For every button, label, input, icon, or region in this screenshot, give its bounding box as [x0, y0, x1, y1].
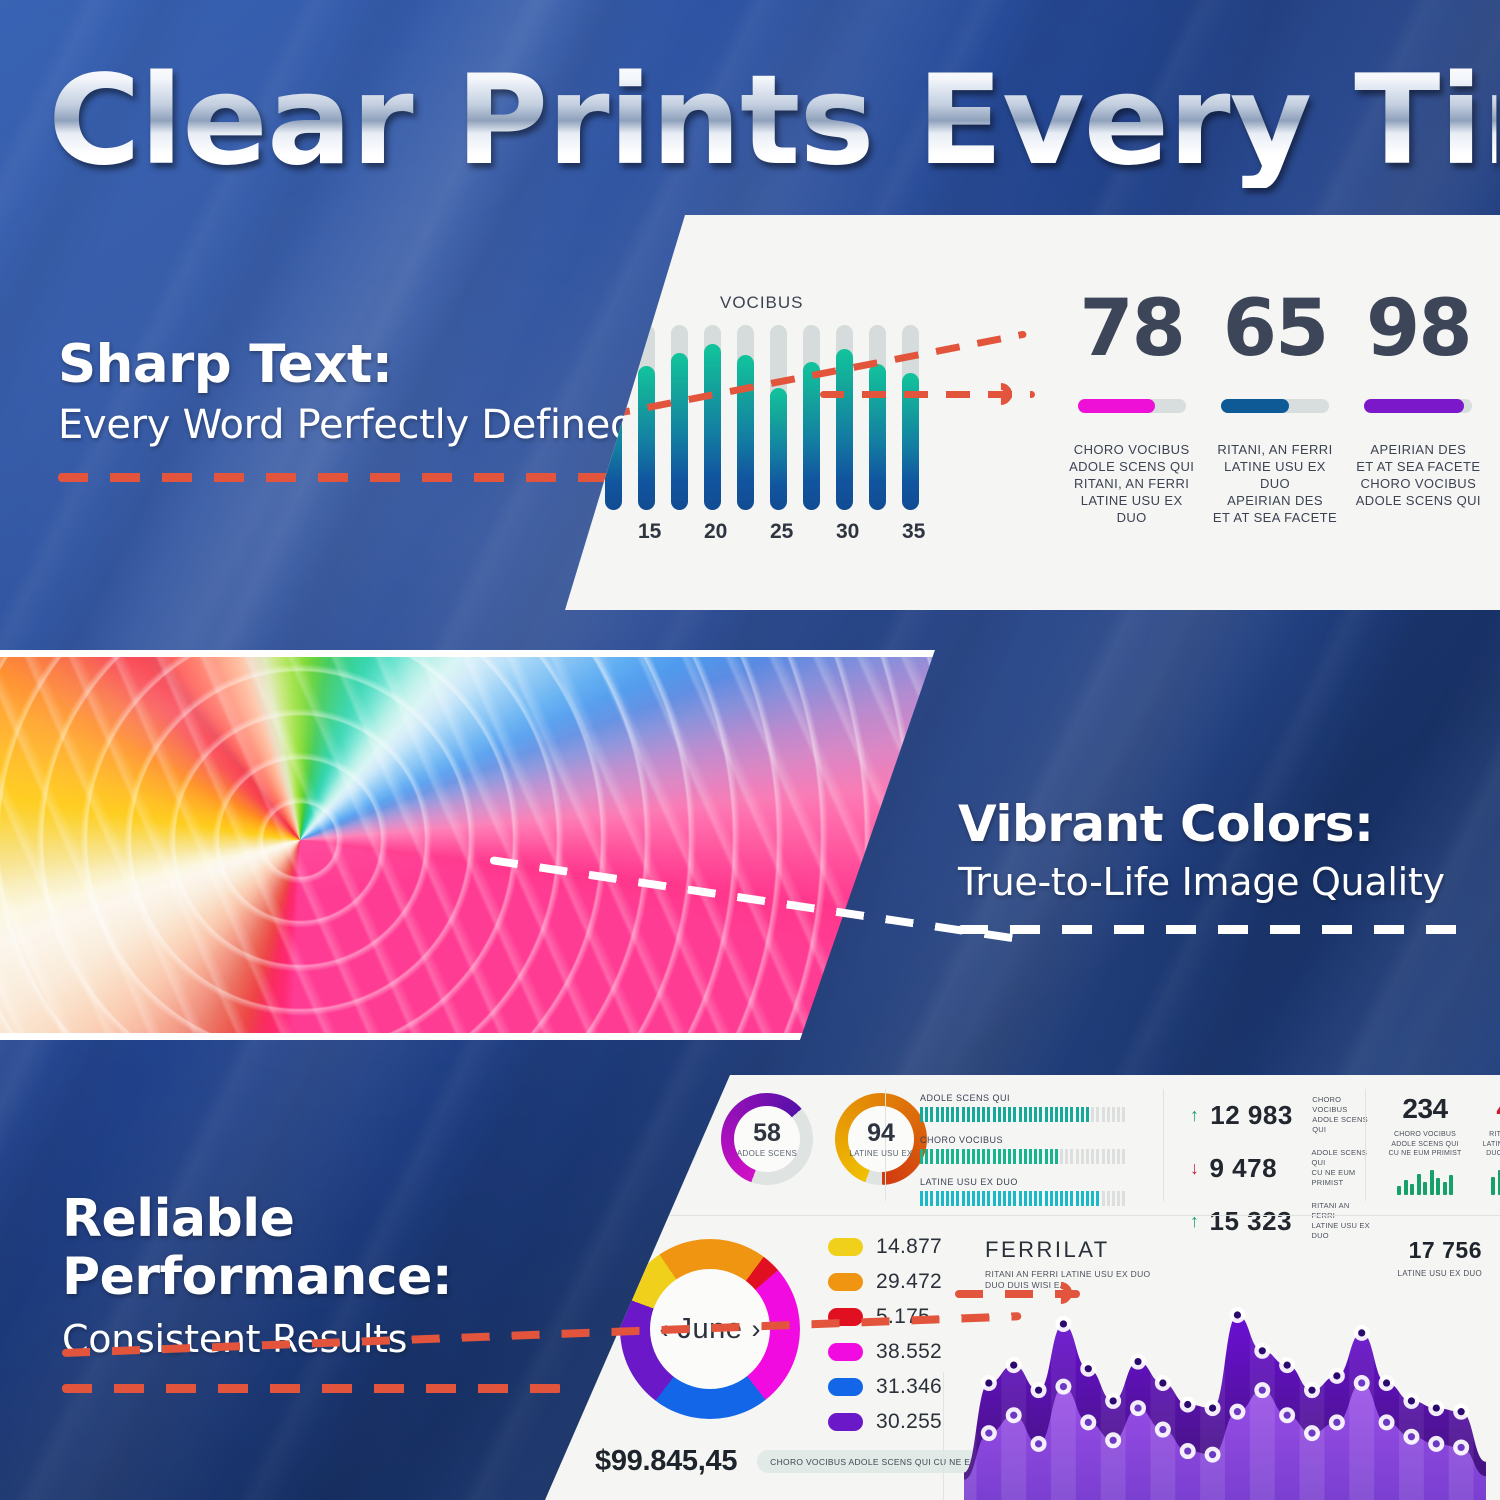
progress-segment: [1122, 1107, 1125, 1122]
legend-swatch: [828, 1343, 863, 1361]
stat-card: 78CHORO VOCIBUSADOLE SCENS QUIRITANI, AN…: [1065, 287, 1198, 526]
mini-stat-description-line: LATINE USU EX DUO: [1479, 1140, 1500, 1150]
legend-value: 31.346: [876, 1375, 942, 1399]
progress-segment: [1081, 1191, 1084, 1206]
legend-row: 14.877: [828, 1235, 942, 1259]
progress-segment: [962, 1191, 965, 1206]
donut-value: 58: [737, 1121, 797, 1146]
legend-swatch: [828, 1413, 863, 1431]
progress-row: CHORO VOCIBUS: [920, 1135, 1150, 1164]
area-marker-dot: [1259, 1387, 1266, 1394]
area-marker-dot: [1458, 1444, 1465, 1451]
area-marker-dot: [1085, 1419, 1092, 1426]
donut-label-group: 94LATINE USU EX: [849, 1121, 912, 1158]
mini-stat: 234CHORO VOCIBUSADOLE SCENS QUICU NE EUM…: [1385, 1093, 1465, 1195]
progress-segment: [1039, 1191, 1042, 1206]
donut-label-group: 58ADOLE SCENS: [737, 1121, 797, 1158]
mini-stat-description-line: CU NE EUM PRIMIST: [1385, 1149, 1465, 1159]
area-marker-dot: [1159, 1379, 1166, 1386]
mini-stat-description-line: ADOLE SCENS QUI: [1385, 1140, 1465, 1150]
kpi-row: ↓9 478ADOLE SCENS QUICU NE EUM PRIMIST: [1190, 1148, 1370, 1188]
sparkline-bar: [1397, 1186, 1401, 1194]
progress-segment: [1013, 1107, 1016, 1122]
sparkline-bar: [1410, 1184, 1414, 1195]
stat-description-line: ET AT SEA FACETE: [1208, 509, 1341, 526]
area-marker-dot: [1060, 1320, 1067, 1327]
feature-sharp-text: Sharp Text: Every Word Perfectly Defined: [58, 335, 658, 482]
progress-segment: [1008, 1191, 1011, 1206]
progress-segment: [1091, 1149, 1094, 1164]
progress-segment: [941, 1107, 944, 1122]
feature-vibrant-colors: Vibrant Colors: True-to-Life Image Quali…: [958, 795, 1478, 934]
progress-segment: [993, 1149, 996, 1164]
progress-segment: [1107, 1191, 1110, 1206]
progress-row: LATINE USU EX DUO: [920, 1177, 1150, 1206]
stat-progress-track: [1221, 399, 1329, 413]
arrow-down-icon: ↓: [1190, 1158, 1201, 1179]
stat-progress-track: [1078, 399, 1186, 413]
progress-segment: [936, 1149, 939, 1164]
area-marker-dot: [1433, 1440, 1440, 1447]
progress-label: ADOLE SCENS QUI: [920, 1093, 1150, 1103]
progress-segment: [1029, 1107, 1032, 1122]
legend-swatch: [828, 1273, 863, 1291]
progress-segment: [993, 1107, 996, 1122]
bar-column: [737, 325, 754, 510]
area-marker-dot: [1259, 1347, 1266, 1354]
progress-segment: [967, 1191, 970, 1206]
mini-stat-value: 234: [1385, 1093, 1465, 1125]
area-marker-dot: [985, 1430, 992, 1437]
progress-segment: [967, 1107, 970, 1122]
progress-segment: [987, 1107, 990, 1122]
progress-segment: [1081, 1107, 1084, 1122]
progress-segment: [1107, 1149, 1110, 1164]
color-swatch-photo: [0, 650, 950, 1040]
progress-segment: [1008, 1149, 1011, 1164]
stat-progress-fill: [1078, 399, 1156, 413]
progress-segment: [1076, 1107, 1079, 1122]
legend-value: 30.255: [876, 1410, 942, 1434]
x-axis-tick: 35: [902, 520, 919, 544]
progress-label: CHORO VOCIBUS: [920, 1135, 1150, 1145]
bar-chart: [605, 325, 945, 510]
area-marker-dot: [1284, 1412, 1291, 1419]
total-amount: $99.845,45: [595, 1445, 737, 1478]
progress-segment: [987, 1191, 990, 1206]
legend-row: 29.472: [828, 1270, 942, 1294]
progress-row: ADOLE SCENS QUI: [920, 1093, 1150, 1122]
color-swatch-image: [0, 650, 950, 1040]
divider-horizontal: [545, 1215, 1500, 1216]
stat-description-line: RITANI, AN FERRI: [1208, 441, 1341, 458]
progress-segment: [1065, 1107, 1068, 1122]
bar-chart-x-axis: 1520253035: [605, 520, 965, 544]
progress-segment: [1024, 1191, 1027, 1206]
progress-segment: [925, 1191, 928, 1206]
progress-segment: [1003, 1107, 1006, 1122]
progress-segment: [1003, 1191, 1006, 1206]
feature-3-dashed-rule: [62, 1384, 562, 1393]
progress-segment: [1039, 1149, 1042, 1164]
legend-value: 14.877: [876, 1235, 942, 1259]
area-marker-dot: [1060, 1383, 1067, 1390]
legend-swatch: [828, 1238, 863, 1256]
stat-description: CHORO VOCIBUSADOLE SCENS QUIRITANI, AN F…: [1065, 441, 1198, 526]
area-marker-dot: [1234, 1408, 1241, 1415]
progress-segment: [1034, 1107, 1037, 1122]
progress-segment: [998, 1149, 1001, 1164]
bar-column: [836, 325, 853, 510]
bar-chart-label: VOCIBUS: [720, 293, 804, 313]
progress-segment: [951, 1107, 954, 1122]
area-marker-dot: [1333, 1419, 1340, 1426]
progress-segment: [1091, 1191, 1094, 1206]
area-marker-dot: [1209, 1451, 1216, 1458]
mini-stat-description-line: RITANI AN FERRI: [1479, 1130, 1500, 1140]
area-marker-dot: [1408, 1433, 1415, 1440]
progress-segments: [920, 1149, 1150, 1164]
stat-description-line: ADOLE SCENS QUI: [1352, 492, 1485, 509]
area-marker-dot: [1234, 1311, 1241, 1318]
kpi-description-line: CHORO VOCIBUS: [1312, 1095, 1370, 1115]
x-axis-tick: 30: [836, 520, 853, 544]
area-marker-dot: [1408, 1397, 1415, 1404]
progress-segment: [1055, 1107, 1058, 1122]
progress-segment: [1029, 1149, 1032, 1164]
area-marker-dot: [1184, 1447, 1191, 1454]
progress-segment: [1019, 1149, 1022, 1164]
progress-segment: [1029, 1191, 1032, 1206]
progress-segment: [1117, 1149, 1120, 1164]
progress-segment: [1045, 1149, 1048, 1164]
area-marker-dot: [1035, 1440, 1042, 1447]
progress-segment: [1117, 1191, 1120, 1206]
donut-gauge: 94LATINE USU EX: [835, 1093, 927, 1185]
feature-1-dashed-rule: [58, 473, 638, 482]
feature-2-headline: Vibrant Colors:: [958, 795, 1478, 853]
kpi-description: CHORO VOCIBUSADOLE SCENS QUI: [1312, 1095, 1370, 1135]
donut-caption: LATINE USU EX: [849, 1149, 912, 1158]
progress-segment: [998, 1191, 1001, 1206]
bar-fill: [704, 344, 721, 511]
area-marker-dot: [985, 1379, 992, 1386]
mini-stat-description: RITANI AN FERRILATINE USU EX DUODUO DUIS…: [1479, 1130, 1500, 1159]
progress-segment: [936, 1191, 939, 1206]
progress-segment: [1096, 1191, 1099, 1206]
kpi-description-line: ADOLE SCENS QUI: [1312, 1115, 1370, 1135]
sparkline-bar: [1436, 1178, 1440, 1195]
area-marker-dot: [1184, 1401, 1191, 1408]
progress-segment: [982, 1149, 985, 1164]
progress-segment: [925, 1107, 928, 1122]
stat-description: RITANI, AN FERRILATINE USU EX DUOAPEIRIA…: [1208, 441, 1341, 526]
progress-segment: [1091, 1107, 1094, 1122]
progress-segment: [946, 1191, 949, 1206]
area-marker-dot: [1433, 1404, 1440, 1411]
progress-segment: [1076, 1149, 1079, 1164]
mini-stat: 457RITANI AN FERRILATINE USU EX DUODUO D…: [1479, 1093, 1500, 1195]
legend-swatch: [828, 1378, 863, 1396]
progress-segment: [1112, 1191, 1115, 1206]
feature-3-headline-line1: Reliable: [62, 1190, 582, 1248]
progress-segment: [982, 1191, 985, 1206]
stat-card-group: 78CHORO VOCIBUSADOLE SCENS QUIRITANI, AN…: [1065, 287, 1485, 526]
progress-segment: [936, 1107, 939, 1122]
stat-description: APEIRIAN DESET AT SEA FACETECHORO VOCIBU…: [1352, 441, 1485, 509]
mini-stat-description-line: DUO DUIS WISI EA: [1479, 1149, 1500, 1159]
area-marker-dot: [1308, 1430, 1315, 1437]
progress-segment: [1081, 1149, 1084, 1164]
area-chart-svg: [950, 1295, 1500, 1500]
area-marker-dot: [1284, 1362, 1291, 1369]
area-marker-dot: [1010, 1412, 1017, 1419]
progress-segment: [1102, 1191, 1105, 1206]
area-marker-dot: [1035, 1387, 1042, 1394]
page-title: Clear Prints Every Time: [48, 58, 1496, 188]
progress-segment: [982, 1107, 985, 1122]
progress-segment: [1096, 1149, 1099, 1164]
sparkline-bar: [1443, 1182, 1447, 1195]
feature-reliable-performance: Reliable Performance: Consistent Results: [62, 1190, 582, 1393]
progress-segment: [1086, 1191, 1089, 1206]
progress-segment: [967, 1149, 970, 1164]
x-axis-tick: [737, 520, 754, 544]
bar-fill: [737, 355, 754, 510]
x-axis-tick: 25: [770, 520, 787, 544]
progress-segment: [1003, 1149, 1006, 1164]
area-chart-title: FERRILAT: [985, 1237, 1110, 1263]
progress-segment: [972, 1191, 975, 1206]
progress-segment: [1065, 1191, 1068, 1206]
stat-value: 65: [1208, 287, 1341, 371]
divider-vertical-2: [1163, 1089, 1164, 1201]
progress-segments: [920, 1191, 1150, 1206]
progress-segment: [1013, 1191, 1016, 1206]
progress-segment: [1086, 1107, 1089, 1122]
bar-fill: [671, 353, 688, 510]
progress-segment: [1076, 1191, 1079, 1206]
mini-stat-value: 457: [1479, 1093, 1500, 1125]
x-axis-tick: 15: [638, 520, 655, 544]
mini-stat-group: 234CHORO VOCIBUSADOLE SCENS QUICU NE EUM…: [1385, 1093, 1500, 1195]
kpi-description-line: ADOLE SCENS QUI: [1312, 1148, 1371, 1168]
progress-segment: [930, 1149, 933, 1164]
x-axis-tick: [803, 520, 820, 544]
progress-segment: [951, 1191, 954, 1206]
legend-value: 38.552: [876, 1340, 942, 1364]
progress-segment: [1060, 1191, 1063, 1206]
feature-2-subtext: True-to-Life Image Quality: [958, 857, 1478, 907]
progress-segment: [1112, 1107, 1115, 1122]
progress-segment: [1039, 1107, 1042, 1122]
progress-label: LATINE USU EX DUO: [920, 1177, 1150, 1187]
progress-segment: [951, 1149, 954, 1164]
progress-segment: [1112, 1149, 1115, 1164]
arrow-up-icon: ↑: [1190, 1105, 1201, 1126]
progress-segment: [977, 1191, 980, 1206]
progress-segment: [946, 1149, 949, 1164]
stat-value: 78: [1065, 287, 1198, 371]
kpi-value: 12 983: [1210, 1100, 1303, 1131]
progress-segment: [941, 1149, 944, 1164]
progress-segment: [993, 1191, 996, 1206]
progress-segment: [1034, 1149, 1037, 1164]
progress-segment: [1034, 1191, 1037, 1206]
progress-segment: [1122, 1191, 1125, 1206]
progress-segment: [925, 1149, 928, 1164]
donut-gauge: 58ADOLE SCENS: [721, 1093, 813, 1185]
area-marker-dot: [1134, 1358, 1141, 1365]
stat-description-line: LATINE USU EX DUO: [1208, 458, 1341, 492]
progress-segment: [972, 1149, 975, 1164]
progress-segment: [1045, 1107, 1048, 1122]
progress-segment: [930, 1107, 933, 1122]
progress-segment: [1024, 1149, 1027, 1164]
kpi-value: 9 478: [1210, 1153, 1303, 1184]
sparkline-bar: [1491, 1177, 1495, 1194]
progress-segment: [1055, 1149, 1058, 1164]
stat-description-line: RITANI, AN FERRI: [1065, 475, 1198, 492]
bar-fill: [803, 362, 820, 510]
area-marker-dot: [1308, 1387, 1315, 1394]
stat-progress-fill: [1364, 399, 1463, 413]
mini-stat-description: CHORO VOCIBUSADOLE SCENS QUICU NE EUM PR…: [1385, 1130, 1465, 1159]
progress-segment: [1008, 1107, 1011, 1122]
stat-description-line: ET AT SEA FACETE: [1352, 458, 1485, 475]
area-marker-dot: [1458, 1408, 1465, 1415]
area-marker-dot: [1110, 1397, 1117, 1404]
mini-stat-description-line: CHORO VOCIBUS: [1385, 1130, 1465, 1140]
progress-segment: [972, 1107, 975, 1122]
stat-description-line: APEIRIAN DES: [1352, 441, 1485, 458]
stat-description-line: LATINE USU EX DUO: [1065, 492, 1198, 526]
area-marker-dot: [1358, 1329, 1365, 1336]
area-marker-dot: [1333, 1372, 1340, 1379]
progress-segment: [1070, 1107, 1073, 1122]
progress-segment: [1102, 1149, 1105, 1164]
progress-segment: [920, 1191, 923, 1206]
legend-row: 31.346: [828, 1375, 942, 1399]
pie-legend: 14.87729.4725.17538.55231.34630.255: [828, 1235, 942, 1445]
color-fan-highlight: [0, 650, 950, 1040]
bar-column: [803, 325, 820, 510]
progress-segment: [1055, 1191, 1058, 1206]
area-chart-card: FERRILAT RITANI AN FERRI LATINE USU EX D…: [950, 1217, 1500, 1500]
sparkline-bar: [1449, 1175, 1453, 1195]
progress-segment: [1065, 1149, 1068, 1164]
area-marker-dot: [1010, 1362, 1017, 1369]
area-marker-dot: [1085, 1365, 1092, 1372]
trend-line-hook-icon: [985, 378, 1016, 409]
area-chart-value-caption: LATINE USU EX DUO: [1397, 1269, 1482, 1278]
legend-value: 29.472: [876, 1270, 942, 1294]
stat-progress-track: [1364, 399, 1472, 413]
feature-1-headline: Sharp Text:: [58, 335, 658, 395]
progress-segment: [1019, 1191, 1022, 1206]
progress-segment: [1096, 1107, 1099, 1122]
stat-value: 98: [1352, 287, 1485, 371]
progress-segment: [1045, 1191, 1048, 1206]
bar-fill: [638, 366, 655, 510]
progress-segment: [977, 1107, 980, 1122]
stat-description-line: CHORO VOCIBUS: [1065, 441, 1198, 458]
area-subtitle-line-1: RITANI AN FERRI LATINE USU EX DUO: [985, 1269, 1150, 1280]
area-marker-dot: [1383, 1379, 1390, 1386]
progress-bar-group: ADOLE SCENS QUICHORO VOCIBUSLATINE USU E…: [920, 1093, 1150, 1219]
x-axis-tick: [671, 520, 688, 544]
progress-segment: [941, 1191, 944, 1206]
progress-segment: [1050, 1149, 1053, 1164]
feature-2-dashed-rule: [958, 925, 1478, 934]
dashboard-bottom-row: ‹ June › 14.87729.4725.17538.55231.34630…: [545, 1217, 1500, 1500]
feature-1-subtext: Every Word Perfectly Defined: [58, 399, 658, 451]
progress-segment: [998, 1107, 1001, 1122]
sparkline: [1479, 1167, 1500, 1195]
sparkline-bar: [1404, 1180, 1408, 1195]
progress-segment: [1107, 1107, 1110, 1122]
area-marker-dot: [1110, 1437, 1117, 1444]
progress-segment: [987, 1149, 990, 1164]
progress-segment: [1086, 1149, 1089, 1164]
bar-fill: [770, 388, 787, 510]
progress-segment: [962, 1107, 965, 1122]
area-marker-dot: [1358, 1379, 1365, 1386]
divider-vertical-4: [943, 1372, 944, 1500]
bar-column: [671, 325, 688, 510]
bar-column: [704, 325, 721, 510]
progress-segment: [1019, 1107, 1022, 1122]
progress-segment: [1024, 1107, 1027, 1122]
stat-progress-fill: [1221, 399, 1289, 413]
area-chart-value: 17 756: [1409, 1237, 1482, 1264]
donut-caption: ADOLE SCENS: [737, 1149, 797, 1158]
area-marker-dot: [1159, 1426, 1166, 1433]
x-axis-tick: [605, 520, 622, 544]
progress-segment: [1060, 1107, 1063, 1122]
area-marker-dot: [1383, 1419, 1390, 1426]
progress-segment: [1050, 1107, 1053, 1122]
stat-description-line: CHORO VOCIBUS: [1352, 475, 1485, 492]
stat-card: 65RITANI, AN FERRILATINE USU EX DUOAPEIR…: [1208, 287, 1341, 526]
progress-segment: [1102, 1107, 1105, 1122]
progress-segment: [956, 1107, 959, 1122]
bar-fill: [869, 364, 886, 510]
progress-segment: [956, 1191, 959, 1206]
donut-value: 94: [849, 1121, 912, 1146]
progress-segment: [1117, 1107, 1120, 1122]
progress-segment: [930, 1191, 933, 1206]
stat-description-line: APEIRIAN DES: [1208, 492, 1341, 509]
feature-3-headline-line2: Performance:: [62, 1248, 582, 1306]
progress-segment: [946, 1107, 949, 1122]
kpi-description: ADOLE SCENS QUICU NE EUM PRIMIST: [1312, 1148, 1371, 1188]
area-marker-dot: [1209, 1404, 1216, 1411]
progress-segment: [977, 1149, 980, 1164]
stat-card: 98APEIRIAN DESET AT SEA FACETECHORO VOCI…: [1352, 287, 1485, 526]
sparkline-bar: [1417, 1174, 1421, 1195]
legend-row: 30.255: [828, 1410, 942, 1434]
x-axis-tick: [869, 520, 886, 544]
progress-segment: [956, 1149, 959, 1164]
progress-segment: [962, 1149, 965, 1164]
progress-segment: [920, 1107, 923, 1122]
bar-column: [869, 325, 886, 510]
sparkline-bar: [1423, 1182, 1427, 1194]
x-axis-tick: 20: [704, 520, 721, 544]
progress-segments: [920, 1107, 1150, 1122]
area-marker-dot: [1134, 1404, 1141, 1411]
